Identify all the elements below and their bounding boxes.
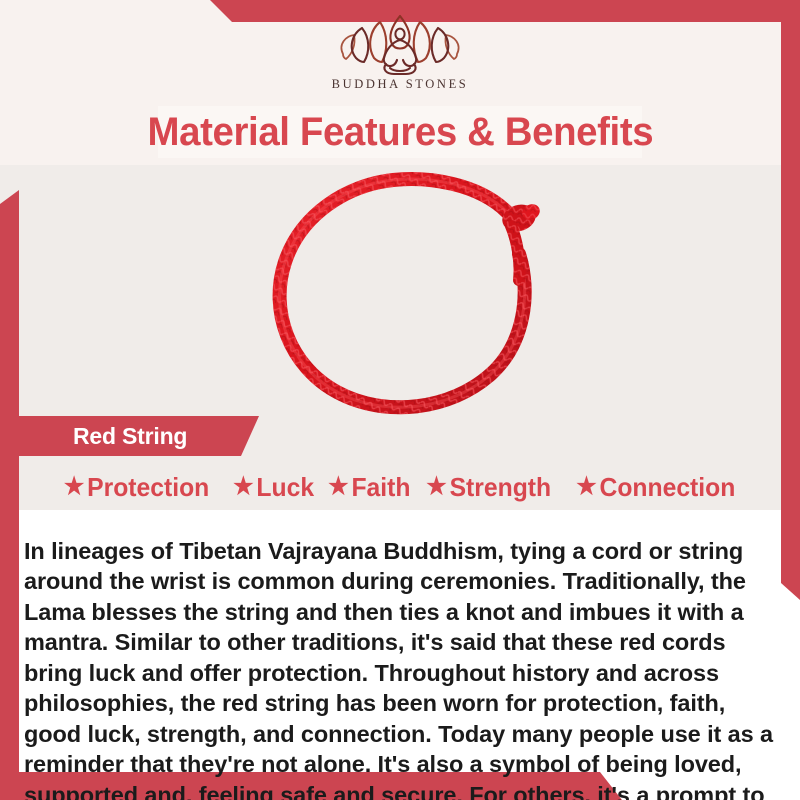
brand-wordmark: BUDDHA STONES xyxy=(332,77,469,92)
star-icon: ★ xyxy=(233,475,253,499)
star-icon: ★ xyxy=(64,475,84,499)
benefit-item-faith: ★ Faith xyxy=(329,474,411,500)
benefit-item-strength: ★ Strength xyxy=(426,474,551,500)
benefit-label: Strength xyxy=(450,474,552,500)
star-icon: ★ xyxy=(426,475,446,499)
product-label-banner: Red String xyxy=(19,416,259,456)
benefit-item-protection: ★ Protection xyxy=(64,474,209,500)
star-icon: ★ xyxy=(329,475,349,499)
benefit-label: Connection xyxy=(600,474,736,500)
benefit-item-connection: ★ Connection xyxy=(577,474,736,500)
benefit-label: Luck xyxy=(257,474,315,500)
red-string-bracelet-image xyxy=(243,170,573,420)
page-title-box: Material Features & Benefits xyxy=(158,106,642,158)
benefits-list: ★ Protection ★ Luck ★ Faith ★ Strength ★… xyxy=(19,466,781,508)
star-icon: ★ xyxy=(577,475,597,499)
brand-logo: BUDDHA STONES xyxy=(0,14,800,100)
product-label: Red String xyxy=(73,423,187,450)
benefit-label: Faith xyxy=(352,474,411,500)
page-title: Material Features & Benefits xyxy=(147,110,653,155)
description-paragraph: In lineages of Tibetan Vajrayana Buddhis… xyxy=(24,536,776,800)
infographic-page: BUDDHA STONES Material Features & Benefi… xyxy=(0,0,800,800)
lotus-meditation-icon xyxy=(334,14,466,76)
product-photo xyxy=(0,165,800,418)
benefit-item-luck: ★ Luck xyxy=(233,474,314,500)
benefit-label: Protection xyxy=(87,474,209,500)
